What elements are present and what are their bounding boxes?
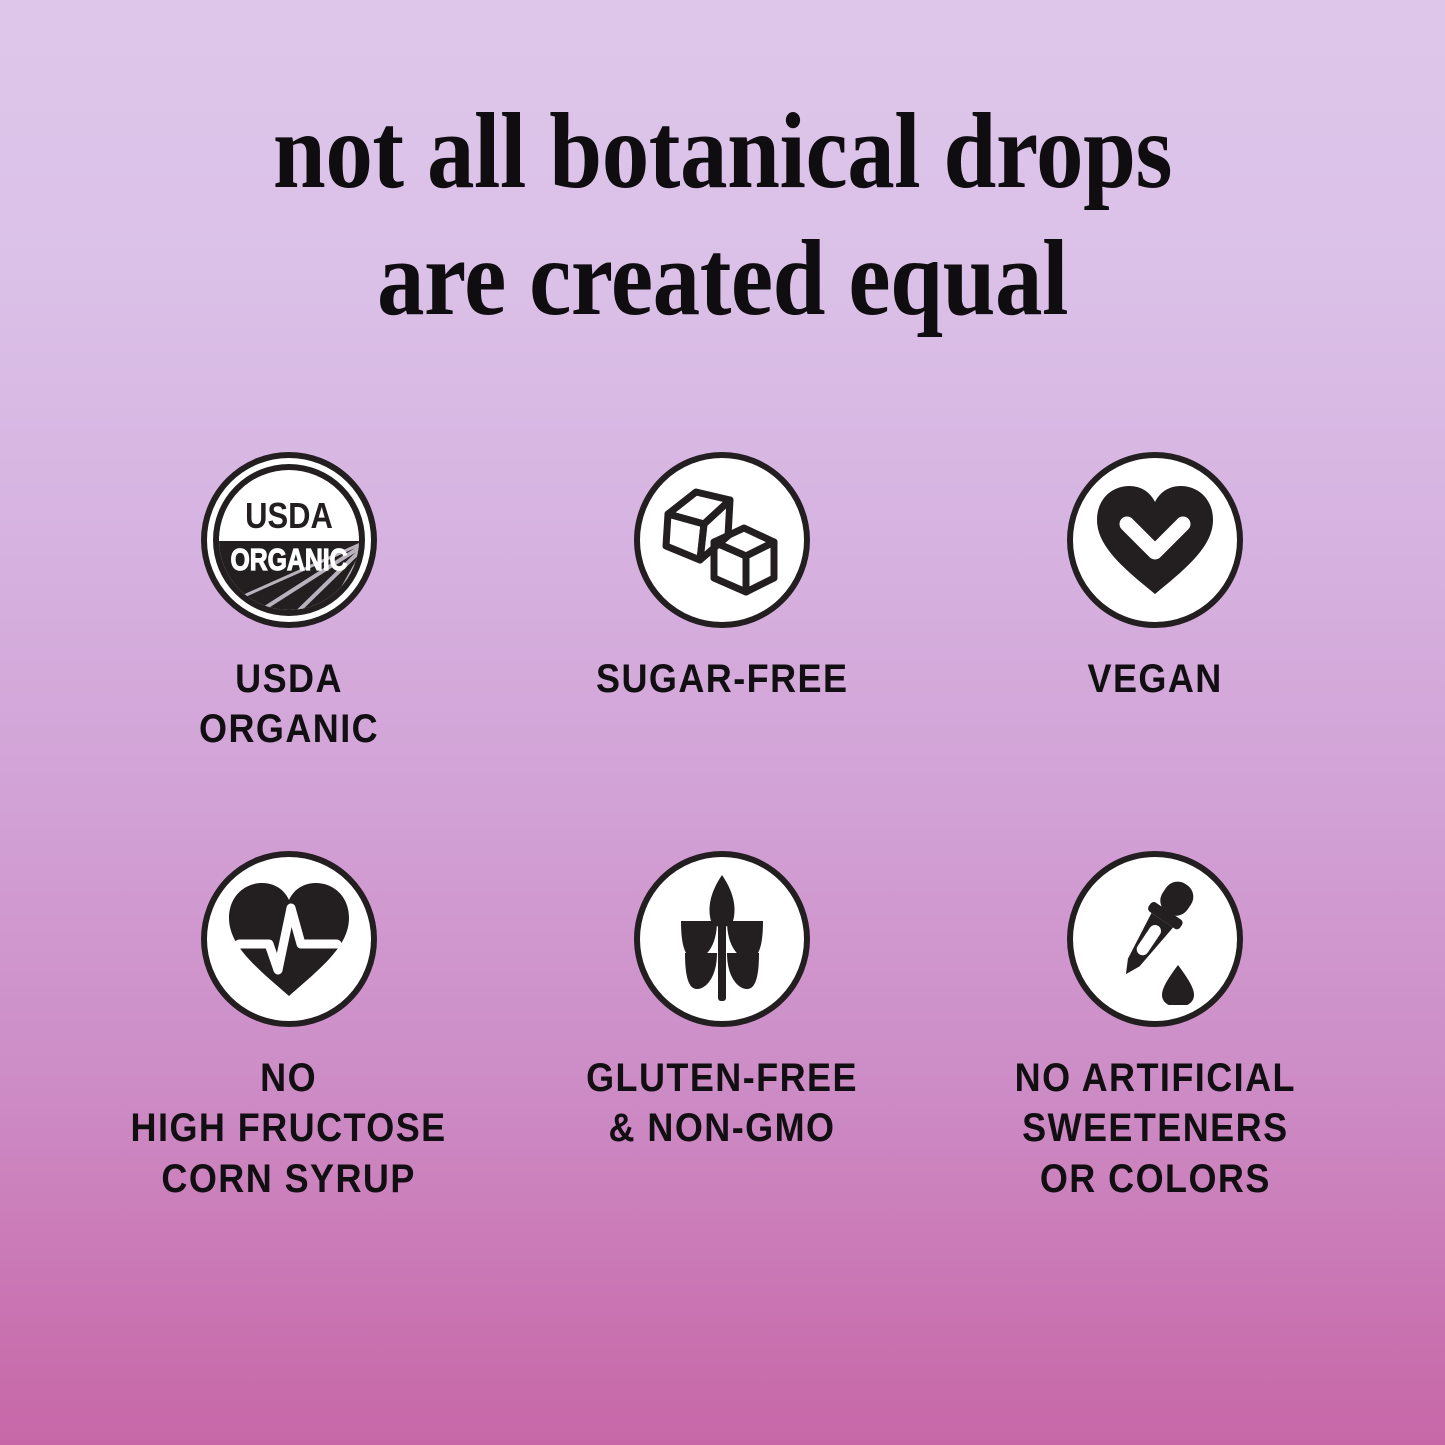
claim-item-no-artificial: NO ARTIFICIAL SWEETENERS OR COLORS bbox=[939, 851, 1372, 1204]
claim-item-vegan: VEGAN bbox=[939, 452, 1372, 755]
vegan-badge bbox=[1067, 452, 1243, 628]
claim-label: NO HIGH FRUCTOSE CORN SYRUP bbox=[131, 1053, 447, 1204]
no-hfcs-badge bbox=[201, 851, 377, 1027]
claim-item-usda-organic: USDA ORGANIC USDA ORGANIC bbox=[72, 452, 505, 755]
heartbeat-icon bbox=[225, 878, 353, 1000]
claim-label: USDA ORGANIC bbox=[199, 654, 379, 755]
claim-item-sugar-free: SUGAR-FREE bbox=[505, 452, 938, 755]
sugar-cubes-icon bbox=[658, 476, 786, 604]
headline-line-2: are created equal bbox=[87, 215, 1359, 342]
gluten-free-badge bbox=[634, 851, 810, 1027]
heart-check-icon bbox=[1093, 480, 1217, 600]
claim-label: SUGAR-FREE bbox=[596, 654, 848, 704]
usda-organic-seal-icon: USDA ORGANIC bbox=[207, 458, 371, 622]
claims-grid: USDA ORGANIC USDA ORGANIC bbox=[72, 452, 1372, 1204]
wheat-stalk-icon bbox=[667, 873, 777, 1005]
dropper-droplet-icon bbox=[1092, 873, 1218, 1005]
headline-line-1: not all botanical drops bbox=[87, 88, 1359, 215]
seal-usda-text: USDA bbox=[245, 497, 333, 537]
usda-organic-badge: USDA ORGANIC bbox=[201, 452, 377, 628]
no-artificial-badge bbox=[1067, 851, 1243, 1027]
claim-label: GLUTEN-FREE & NON-GMO bbox=[586, 1053, 858, 1154]
seal-organic-text: ORGANIC bbox=[230, 542, 347, 576]
product-claims-infographic: not all botanical drops are created equa… bbox=[0, 0, 1445, 1445]
claim-label: VEGAN bbox=[1088, 654, 1223, 704]
claim-item-gluten-free: GLUTEN-FREE & NON-GMO bbox=[505, 851, 938, 1204]
claim-label: NO ARTIFICIAL SWEETENERS OR COLORS bbox=[1015, 1053, 1296, 1204]
claim-item-no-hfcs: NO HIGH FRUCTOSE CORN SYRUP bbox=[72, 851, 505, 1204]
page-title: not all botanical drops are created equa… bbox=[87, 88, 1359, 343]
sugar-free-badge bbox=[634, 452, 810, 628]
